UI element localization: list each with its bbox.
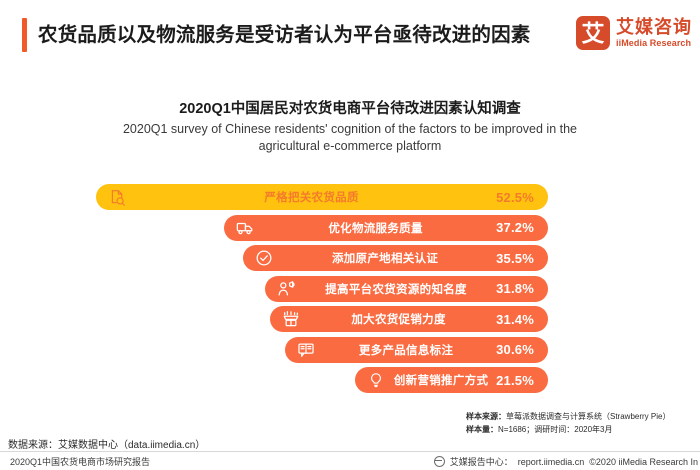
promotion-icon (281, 309, 301, 329)
funnel-bar-value: 30.6% (496, 342, 534, 357)
data-source: 数据来源：艾媒数据中心（data.iimedia.cn） (8, 436, 205, 451)
funnel-bar-label: 提高平台农货资源的知名度 (296, 281, 496, 297)
logo-name-cn: 艾媒咨询 (616, 18, 692, 36)
funnel-bar-value: 31.4% (496, 312, 534, 327)
footer-report-name: 2020Q1中国农货电商市场研究报告 (10, 455, 150, 468)
sample-size-line: 样本量：N=1686；调研时间：2020年3月 (466, 423, 670, 436)
chart-title-block: 2020Q1中国居民对农货电商平台待改进因素认知调查 2020Q1 survey… (0, 100, 700, 155)
truck-icon (235, 218, 255, 238)
brand-logo: 艾 艾媒咨询 iiMedia Research (576, 16, 692, 50)
logo-mark-icon: 艾 (576, 16, 610, 50)
sample-size-value: N=1686；调研时间：2020年3月 (498, 425, 613, 434)
footer-meta: 艾媒报告中心： report.iimedia.cn ©2020 iiMedia … (434, 455, 698, 468)
header-accent-bar (22, 18, 27, 52)
funnel-bar-value: 31.8% (496, 281, 534, 296)
funnel-bar[interactable]: 优化物流服务质量37.2% (224, 215, 548, 241)
header: 农货品质以及物流服务是受访者认为平台亟待改进的因素 艾 艾媒咨询 iiMedia… (0, 0, 700, 70)
funnel-bar-label: 加大农货促销力度 (301, 311, 496, 327)
footer-copyright: ©2020 iiMedia Research In (589, 457, 698, 467)
funnel-bar-label: 更多产品信息标注 (316, 342, 496, 358)
funnel-bar-value: 52.5% (496, 190, 534, 205)
logo-text: 艾媒咨询 iiMedia Research (616, 18, 692, 48)
footer-report-center: 艾媒报告中心： (450, 455, 513, 468)
slide-root: 农货品质以及物流服务是受访者认为平台亟待改进的因素 艾 艾媒咨询 iiMedia… (0, 0, 700, 470)
check-circle-icon (254, 248, 274, 268)
funnel-bar[interactable]: 添加原产地相关认证35.5% (243, 245, 548, 271)
note-label-icon (296, 340, 316, 360)
chart-title-en: 2020Q1 survey of Chinese residents' cogn… (0, 121, 700, 155)
person-megaphone-icon (276, 279, 296, 299)
funnel-bar-value: 21.5% (496, 373, 534, 388)
sample-source-value: 草莓派数据调查与计算系统（Strawberry Pie） (506, 412, 670, 421)
funnel-bar-label: 添加原产地相关认证 (274, 250, 496, 266)
funnel-bar[interactable]: 严格把关农货品质52.5% (96, 184, 548, 210)
funnel-bar-value: 35.5% (496, 251, 534, 266)
funnel-bar[interactable]: 加大农货促销力度31.4% (270, 306, 548, 332)
page-title: 农货品质以及物流服务是受访者认为平台亟待改进的因素 (38, 18, 578, 52)
funnel-bar-label: 创新营销推广方式 (386, 372, 496, 388)
chart-title-cn: 2020Q1中国居民对农货电商平台待改进因素认知调查 (0, 100, 700, 119)
lightbulb-icon (366, 370, 386, 390)
funnel-bar[interactable]: 提高平台农货资源的知名度31.8% (265, 276, 548, 302)
funnel-chart: 严格把关农货品质52.5%优化物流服务质量37.2%添加原产地相关认证35.5%… (0, 184, 700, 399)
globe-icon (434, 456, 445, 467)
sample-source-line: 样本来源：草莓派数据调查与计算系统（Strawberry Pie） (466, 410, 670, 423)
funnel-bar[interactable]: 更多产品信息标注30.6% (285, 337, 548, 363)
document-search-icon (107, 187, 127, 207)
sample-size-label: 样本量： (466, 425, 498, 434)
sample-info: 样本来源：草莓派数据调查与计算系统（Strawberry Pie） 样本量：N=… (466, 410, 670, 436)
funnel-bar-label: 严格把关农货品质 (127, 189, 496, 205)
funnel-bar-label: 优化物流服务质量 (255, 220, 496, 236)
funnel-bar[interactable]: 创新营销推广方式21.5% (355, 367, 548, 393)
footer-report-url[interactable]: report.iimedia.cn (518, 457, 585, 467)
sample-source-label: 样本来源： (466, 412, 506, 421)
funnel-bar-value: 37.2% (496, 220, 534, 235)
logo-name-en: iiMedia Research (616, 39, 692, 48)
